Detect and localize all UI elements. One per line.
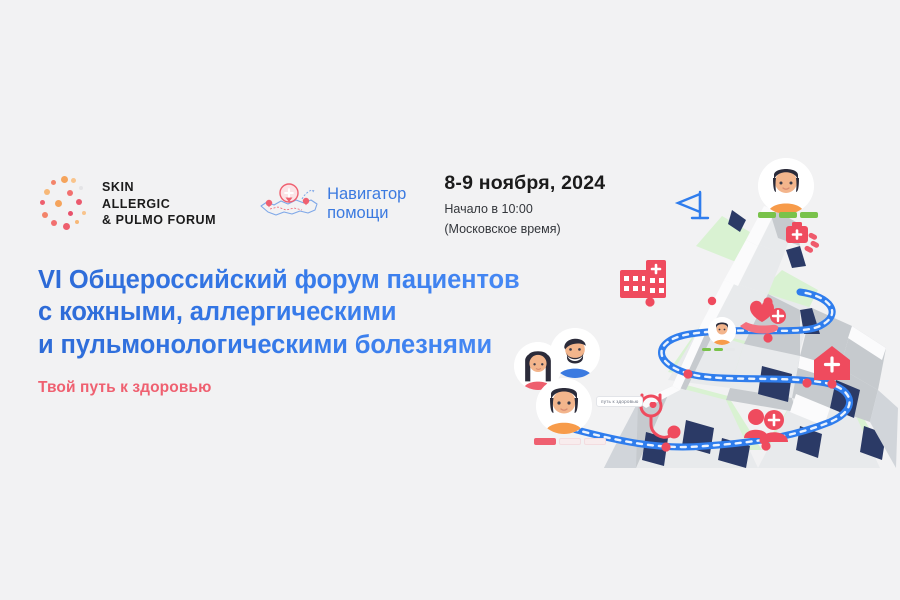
logo-line-1: SKIN <box>102 179 216 196</box>
summit-flag-icon <box>678 192 708 218</box>
title-line-2: с кожными, аллергическими <box>38 296 558 328</box>
navigator-logo-text: Навигатор помощи <box>327 185 406 224</box>
logo-line-3: & PULMO FORUM <box>102 212 216 229</box>
progress-bar-summit <box>758 212 818 218</box>
path-label: путь к здоровью <box>596 396 643 407</box>
hospital-icon <box>620 260 666 307</box>
skin-allergic-logo-text: SKIN ALLERGIC & PULMO FORUM <box>102 179 216 229</box>
russia-map-pin-icon <box>258 179 320 229</box>
avatar-start[interactable] <box>536 378 592 434</box>
avatar-summit[interactable] <box>758 158 814 214</box>
mountain-journey-illustration: путь к здоровью <box>500 150 900 470</box>
page-title: VI Общероссийский форум пациентов с кожн… <box>38 264 558 361</box>
forum-promo-banner: SKIN ALLERGIC & PULMO FORUM <box>0 0 900 600</box>
navigator-pomoshchi-logo[interactable]: Навигатор помощи <box>258 179 406 229</box>
navigator-line-1: Навигатор <box>327 185 406 204</box>
skin-allergic-pulmo-forum-logo[interactable]: SKIN ALLERGIC & PULMO FORUM <box>38 175 216 233</box>
avatar-midway[interactable] <box>708 317 736 345</box>
tagline: Твой путь к здоровью <box>38 379 558 397</box>
title-line-3: и пульмонологическими болезнями <box>38 329 558 361</box>
logo-line-2: ALLERGIC <box>102 196 216 213</box>
navigator-line-2: помощи <box>327 204 406 223</box>
avatar-bearded-man[interactable] <box>550 328 600 378</box>
dot-circle-icon <box>38 175 96 233</box>
progress-bar-midway <box>702 348 735 351</box>
banner-content: SKIN ALLERGIC & PULMO FORUM <box>38 168 558 397</box>
progress-bar-start <box>534 438 606 445</box>
logo-and-date-row: SKIN ALLERGIC & PULMO FORUM <box>38 168 558 240</box>
title-line-1: VI Общероссийский форум пациентов <box>38 264 558 296</box>
